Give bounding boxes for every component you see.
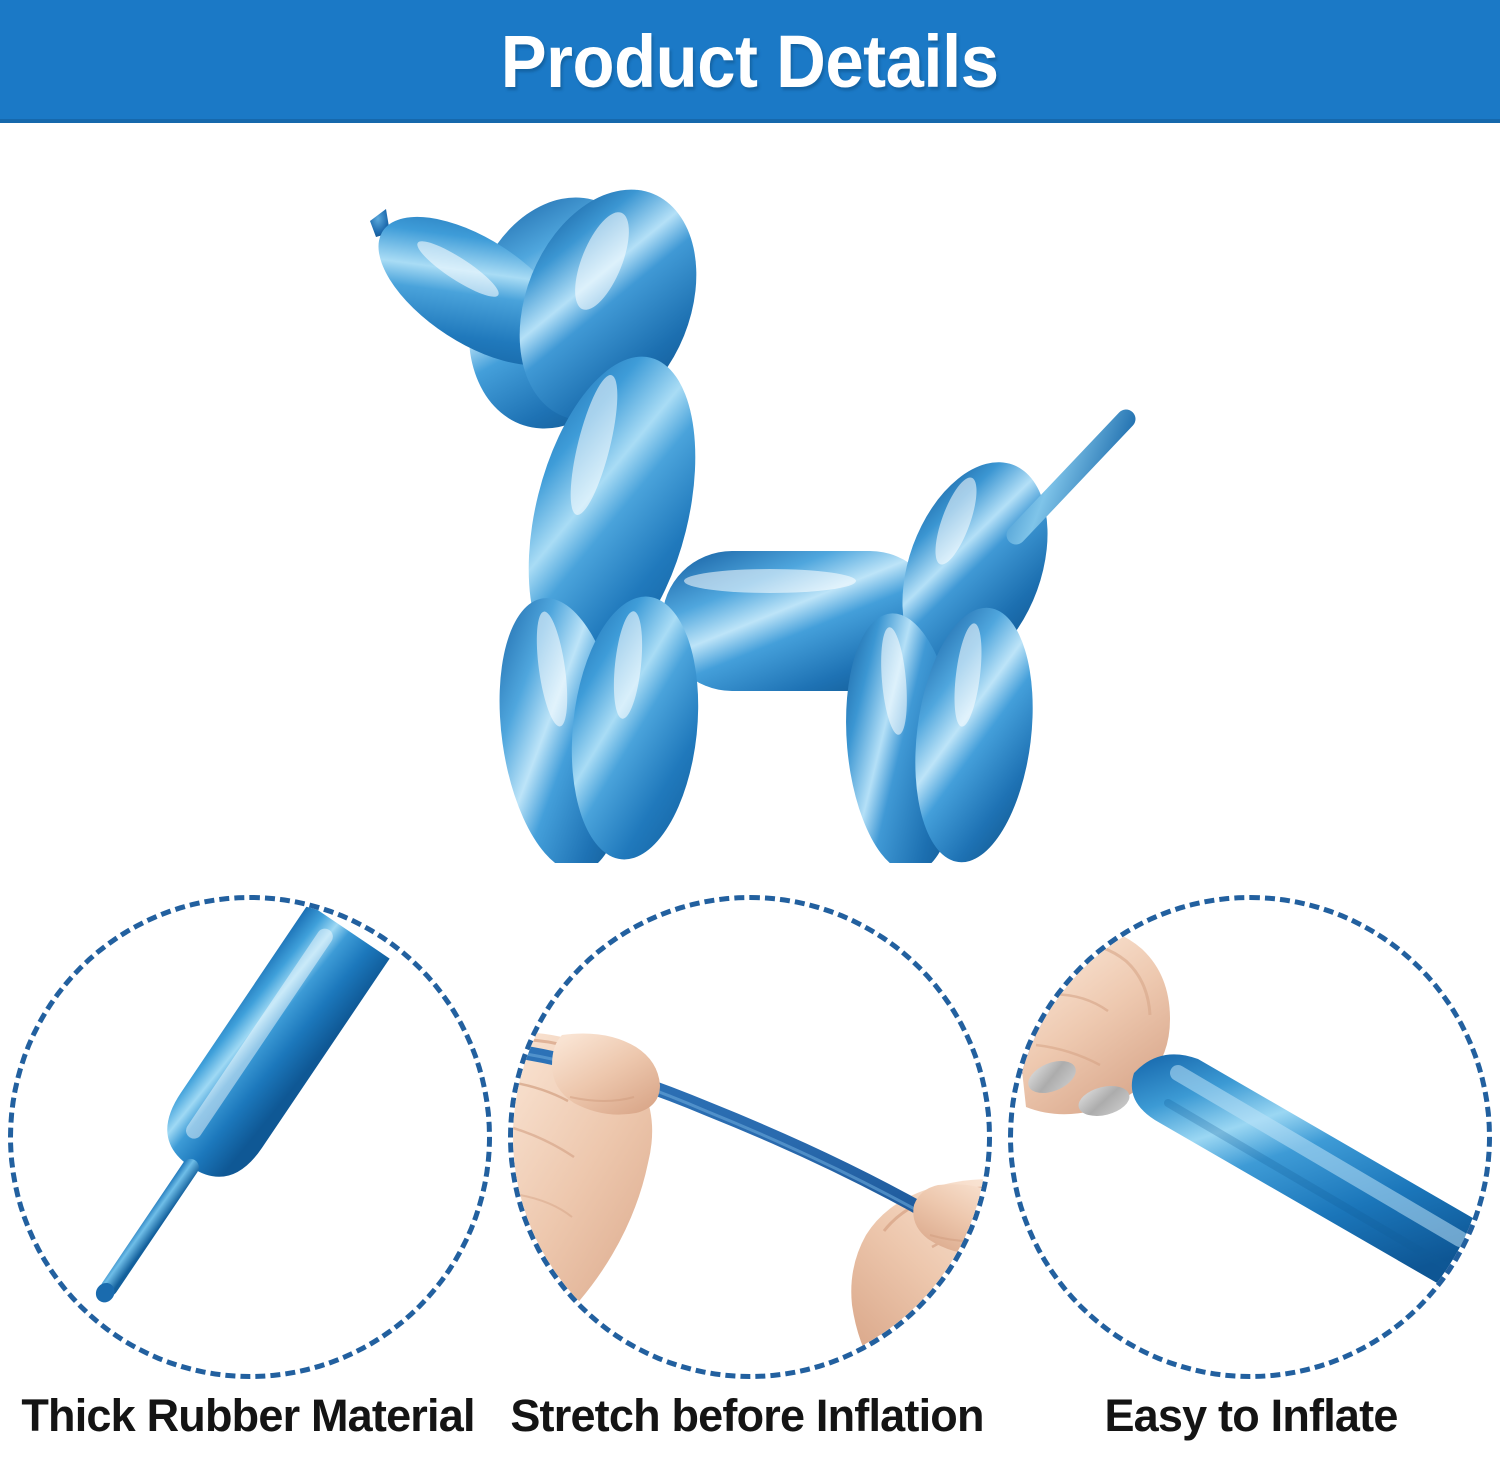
hand-inflating-balloon-image bbox=[1008, 895, 1492, 1379]
hero-section bbox=[0, 123, 1500, 883]
feature-panels: Thick Rubber Material bbox=[0, 883, 1500, 1470]
feature-circle-frame-2 bbox=[508, 895, 992, 1379]
product-details-page: Product Details bbox=[0, 0, 1500, 1470]
feature-circle-frame-3 bbox=[1008, 895, 1492, 1379]
feature-caption-3: Easy to Inflate bbox=[1000, 1391, 1500, 1441]
page-title: Product Details bbox=[501, 25, 999, 99]
feature-caption-2: Stretch before Inflation bbox=[500, 1391, 1000, 1441]
stretching-balloon-image bbox=[508, 895, 992, 1379]
header-banner: Product Details bbox=[0, 0, 1500, 123]
feature-circle-frame-1 bbox=[8, 895, 492, 1379]
uninflated-balloon-image bbox=[8, 895, 492, 1379]
feature-panel-stretch-before-inflation: Stretch before Inflation bbox=[500, 883, 1000, 1470]
feature-caption-1: Thick Rubber Material bbox=[0, 1391, 500, 1441]
feature-panel-thick-rubber-material: Thick Rubber Material bbox=[0, 883, 500, 1470]
balloon-dog-image bbox=[340, 183, 1170, 863]
balloon-tail bbox=[1016, 419, 1126, 535]
inflated-balloon bbox=[1132, 1054, 1492, 1290]
feature-panel-easy-to-inflate: Easy to Inflate bbox=[1000, 883, 1500, 1470]
